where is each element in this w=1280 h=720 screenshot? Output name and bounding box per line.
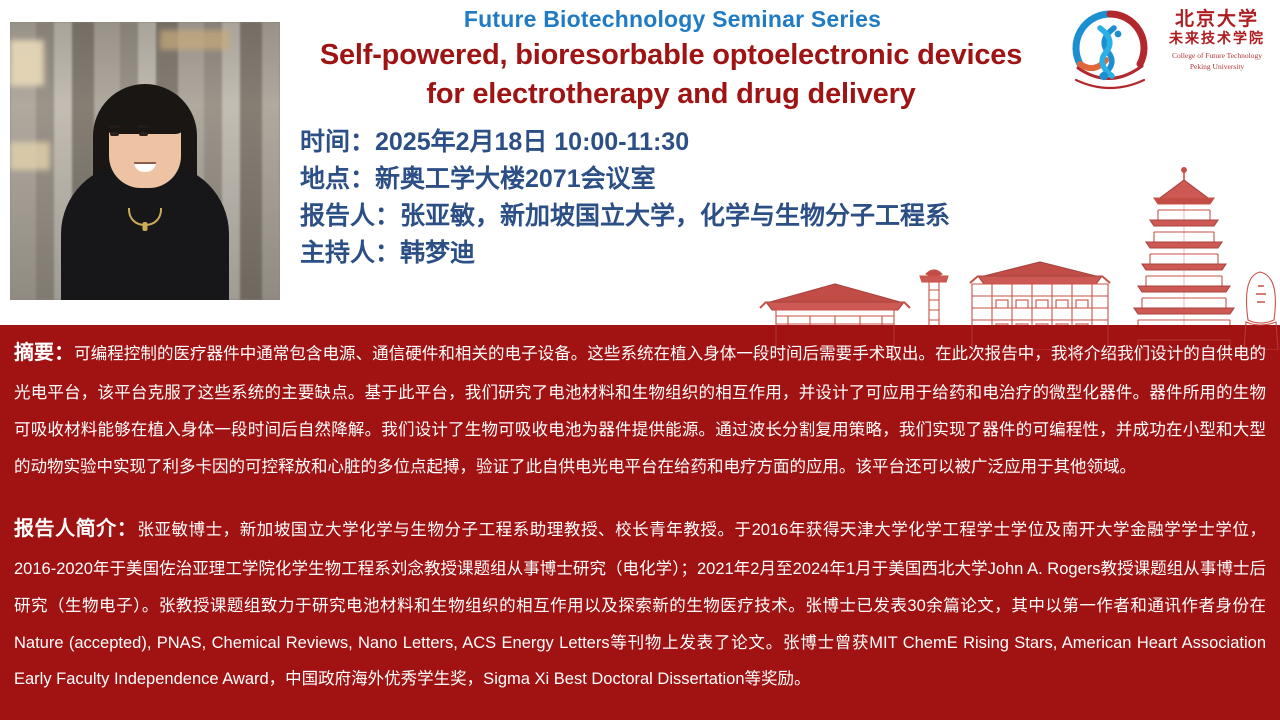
photo-highlight: [10, 142, 50, 170]
logo-college-name: 未来技术学院: [1160, 31, 1274, 50]
event-details: 时间：2025年2月18日 10:00-11:30 地点：新奥工学大楼2071会…: [300, 124, 950, 272]
speaker-bio-section: 报告人简介：张亚敏博士，新加坡国立大学化学与生物分子工程系助理教授、校长青年教授…: [14, 507, 1266, 698]
event-speaker: 报告人：张亚敏，新加坡国立大学，化学与生物分子工程系: [300, 198, 950, 235]
abstract-label: 摘要：: [14, 342, 74, 364]
title-line-2: for electrotherapy and drug delivery: [282, 75, 1060, 114]
event-location: 地点：新奥工学大楼2071会议室: [300, 161, 950, 198]
pku-future-technology-logo: 北京大学 未来技术学院 College of Future Technology…: [1064, 4, 1274, 108]
photo-highlight: [160, 30, 230, 50]
speaker-photo: [10, 22, 280, 300]
eyebrow: [137, 125, 149, 128]
logo-wordmark: 北京大学 未来技术学院 College of Future Technology…: [1160, 10, 1274, 72]
poster-header-area: Future Biotechnology Seminar Series Self…: [0, 0, 1280, 325]
eye: [110, 132, 119, 136]
bio-body: 张亚敏博士，新加坡国立大学化学与生物分子工程系助理教授、校长青年教授。于2016…: [14, 521, 1266, 688]
bio-label: 报告人简介：: [14, 518, 137, 540]
necklace-pendant: [143, 222, 148, 231]
classroom-building-icon: [970, 262, 1110, 325]
event-time: 时间：2025年2月18日 10:00-11:30: [300, 124, 950, 161]
eye: [139, 132, 148, 136]
abstract-section: 摘要：可编程控制的医疗器件中通常包含电源、通信硬件和相关的电子设备。这些系统在植…: [14, 331, 1266, 485]
boya-pagoda-icon: [1130, 168, 1238, 325]
logo-university-name: 北京大学: [1160, 10, 1274, 31]
seminar-poster: Future Biotechnology Seminar Series Self…: [0, 0, 1280, 720]
portrait-figure: [50, 70, 240, 300]
gate-hall-icon: [760, 284, 910, 325]
event-host: 主持人：韩梦迪: [300, 235, 950, 272]
abstract-body: 可编程控制的医疗器件中通常包含电源、通信硬件和相关的电子设备。这些系统在植入身体…: [14, 345, 1266, 476]
logo-english-university: Peking University: [1160, 62, 1274, 72]
photo-highlight: [10, 40, 44, 86]
dna-helix-logo-icon: [1064, 6, 1156, 102]
poster-body-band: 摘要：可编程控制的医疗器件中通常包含电源、通信硬件和相关的电子设备。这些系统在植…: [0, 325, 1280, 720]
eyebrow: [108, 125, 120, 128]
page-title: Self-powered, bioresorbable optoelectron…: [282, 36, 1060, 113]
logo-english-college: College of Future Technology: [1160, 51, 1274, 61]
huabiao-column-icon: [920, 270, 948, 325]
seminar-series-label: Future Biotechnology Seminar Series: [285, 6, 1060, 33]
title-line-1: Self-powered, bioresorbable optoelectron…: [282, 36, 1060, 75]
stone-stele-icon: [1244, 272, 1278, 325]
